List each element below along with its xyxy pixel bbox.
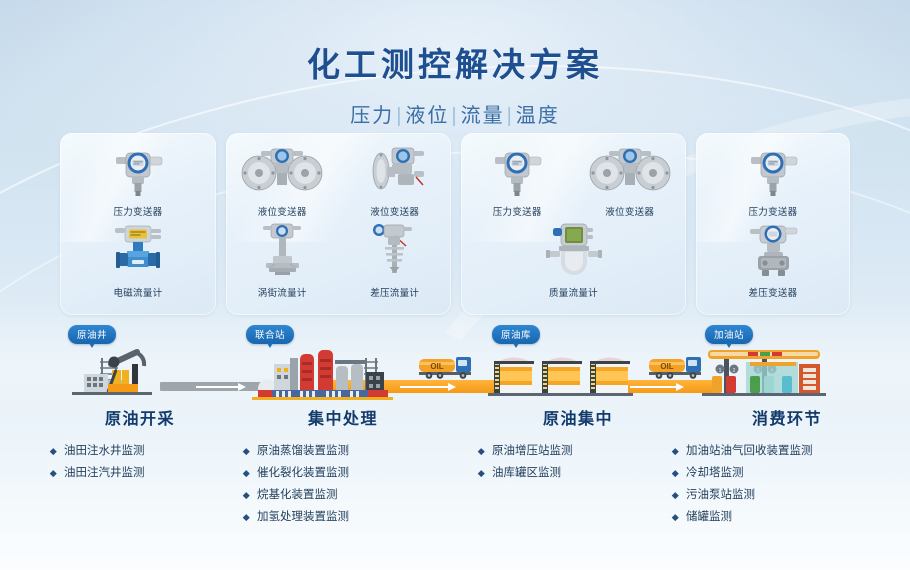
level-transmitter-single-flange-icon — [343, 141, 447, 199]
product-label: 压力变送器 — [708, 204, 838, 218]
oil-pumpjack-icon — [78, 340, 188, 407]
list-item[interactable]: 烷基化装置监测 — [243, 484, 443, 506]
stage-title: 原油集中 — [478, 405, 678, 429]
product-label: 压力变送器 — [73, 204, 203, 218]
differential-pressure-flowmeter-icon — [343, 222, 447, 280]
stage-bullet-list: 油田注水井监测 油田注汽井监测 — [50, 440, 230, 484]
product-label: 压力变送器 — [465, 204, 569, 218]
product-item[interactable]: 差压变送器 — [708, 222, 838, 299]
subtitle-separator-2: | — [451, 105, 458, 127]
refinery-plant-icon — [252, 340, 397, 407]
list-item[interactable]: 加氢处理装置监测 — [243, 506, 443, 528]
page-subtitle: 压力|液位|流量|温度 — [0, 99, 910, 128]
product-item[interactable]: 液位变送器 — [230, 141, 334, 218]
header: 化工测控解决方案 压力|液位|流量|温度 — [0, 38, 910, 128]
product-label: 涡街流量计 — [230, 285, 334, 299]
product-item[interactable]: 液位变送器 — [578, 141, 682, 218]
product-item[interactable]: 电磁流量计 — [73, 222, 203, 299]
mass-flowmeter-icon — [522, 222, 626, 280]
product-label: 差压变送器 — [708, 285, 838, 299]
product-item[interactable]: 质量流量计 — [522, 222, 626, 299]
product-card-pressure-flow[interactable]: 压力变送器 — [60, 133, 216, 315]
product-label: 液位变送器 — [578, 204, 682, 218]
product-label: 质量流量计 — [522, 285, 626, 299]
product-item[interactable]: 液位变送器 — [343, 141, 447, 218]
pressure-transmitter-icon — [465, 141, 569, 199]
pressure-transmitter-icon — [73, 141, 203, 199]
stage-block-processing: 集中处理 原油蒸馏装置监测 催化裂化装置监测 烷基化装置监测 加氢处理装置监测 — [243, 405, 443, 528]
list-item[interactable]: 加油站油气回收装置监测 — [672, 440, 902, 462]
product-item[interactable]: 涡街流量计 — [230, 222, 334, 299]
list-item[interactable]: 储罐监测 — [672, 506, 902, 528]
list-item[interactable]: 冷却塔监测 — [672, 462, 902, 484]
pipeline-arrow-line — [630, 386, 676, 388]
ground-line — [72, 392, 152, 395]
list-item[interactable]: 油田注水井监测 — [50, 440, 230, 462]
subtitle-separator-1: | — [396, 105, 403, 127]
stage-title: 消费环节 — [672, 405, 902, 429]
list-item[interactable]: 原油蒸馏装置监测 — [243, 440, 443, 462]
electromagnetic-flowmeter-icon — [73, 222, 203, 280]
stage-title: 集中处理 — [243, 405, 443, 429]
storage-tanks-icon — [488, 349, 633, 406]
product-card-pressure-diff[interactable]: 压力变送器 — [696, 133, 850, 315]
stage-block-storage: 原油集中 原油增压站监测 油库罐区监测 — [478, 405, 678, 484]
product-card-pressure-level-mass[interactable]: 压力变送器 — [461, 133, 686, 315]
infographic-canvas: 化工测控解决方案 压力|液位|流量|温度 — [0, 0, 910, 570]
product-item[interactable]: 压力变送器 — [73, 141, 203, 218]
svg-text:OIL: OIL — [430, 362, 443, 371]
svg-text:1: 1 — [719, 368, 722, 374]
product-label: 差压流量计 — [343, 285, 447, 299]
list-item[interactable]: 催化裂化装置监测 — [243, 462, 443, 484]
list-item[interactable]: 油库罐区监测 — [478, 462, 678, 484]
stage-bullet-list: 加油站油气回收装置监测 冷却塔监测 污油泵站监测 储罐监测 — [672, 440, 902, 528]
page-title: 化工测控解决方案 — [0, 38, 910, 86]
stage-block-extraction: 原油开采 油田注水井监测 油田注汽井监测 — [50, 405, 230, 484]
product-card-row: 压力变送器 — [60, 133, 850, 315]
stage-bullet-list: 原油蒸馏装置监测 催化裂化装置监测 烷基化装置监测 加氢处理装置监测 — [243, 440, 443, 528]
list-item[interactable]: 油田注汽井监测 — [50, 462, 230, 484]
pipeline-arrow-head — [238, 383, 246, 391]
tanker-truck-icon: OIL — [418, 354, 478, 385]
svg-text:2: 2 — [733, 368, 736, 374]
level-transmitter-flanged-icon — [578, 141, 682, 199]
product-item[interactable]: 压力变送器 — [465, 141, 569, 218]
differential-pressure-transmitter-icon — [708, 222, 838, 280]
stage-badge-crude-depot[interactable]: 原油库 — [492, 325, 540, 344]
subtitle-part-temperature: 温度 — [516, 105, 560, 127]
product-item[interactable]: 压力变送器 — [708, 141, 838, 218]
stage-block-consumption: 消费环节 加油站油气回收装置监测 冷却塔监测 污油泵站监测 储罐监测 — [672, 405, 902, 528]
svg-text:OIL: OIL — [660, 362, 673, 371]
product-card-level-flow[interactable]: 液位变送器 — [226, 133, 451, 315]
product-label: 液位变送器 — [343, 204, 447, 218]
pipeline-arrow-line — [400, 386, 448, 388]
product-item[interactable]: 差压流量计 — [343, 222, 447, 299]
subtitle-part-pressure: 压力 — [350, 105, 394, 127]
stage-bullet-list: 原油增压站监测 油库罐区监测 — [478, 440, 678, 484]
list-item[interactable]: 原油增压站监测 — [478, 440, 678, 462]
gas-station-icon: 1 2 3 4 — [700, 342, 835, 405]
stage-title: 原油开采 — [50, 405, 230, 429]
subtitle-separator-3: | — [507, 105, 514, 127]
tanker-truck-icon: OIL — [648, 354, 708, 385]
product-label: 电磁流量计 — [73, 285, 203, 299]
pipeline-arrow-line — [196, 386, 238, 388]
list-item[interactable]: 污油泵站监测 — [672, 484, 902, 506]
pressure-transmitter-icon — [708, 141, 838, 199]
level-transmitter-flanged-icon — [230, 141, 334, 199]
vortex-flowmeter-icon — [230, 222, 334, 280]
subtitle-part-level: 液位 — [405, 105, 449, 127]
subtitle-part-flow: 流量 — [461, 105, 505, 127]
product-label: 液位变送器 — [230, 204, 334, 218]
